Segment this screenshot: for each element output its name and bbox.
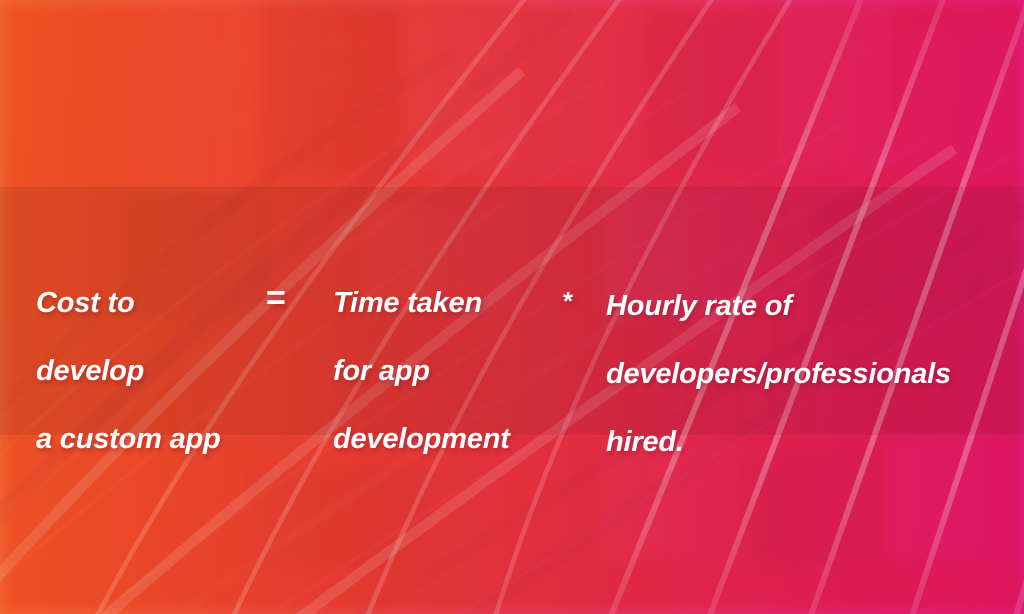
term-cost-line-1: Cost to: [36, 286, 271, 320]
formula-term-rate: Hourly rate of developers/professionals …: [606, 255, 1006, 493]
formula-term-time: Time taken for app development: [333, 252, 548, 490]
term-rate-line-3: hired.: [606, 425, 1006, 459]
term-time-line-3: development: [333, 422, 548, 456]
multiply-operator: *: [563, 288, 573, 314]
term-rate-line-2: developers/professionals: [606, 357, 1006, 391]
term-time-line-2: for app: [333, 354, 548, 388]
term-time-line-1: Time taken: [333, 286, 548, 320]
term-cost-line-3: a custom app: [36, 422, 271, 456]
formula-term-cost: Cost to develop a custom app: [36, 252, 271, 490]
formula-row: Cost to develop a custom app = Time take…: [0, 187, 1024, 435]
cost-formula-banner: Cost to develop a custom app = Time take…: [0, 0, 1024, 614]
term-rate-line-1: Hourly rate of: [606, 289, 1006, 323]
term-cost-line-2: develop: [36, 354, 271, 388]
equals-operator: =: [266, 281, 286, 315]
